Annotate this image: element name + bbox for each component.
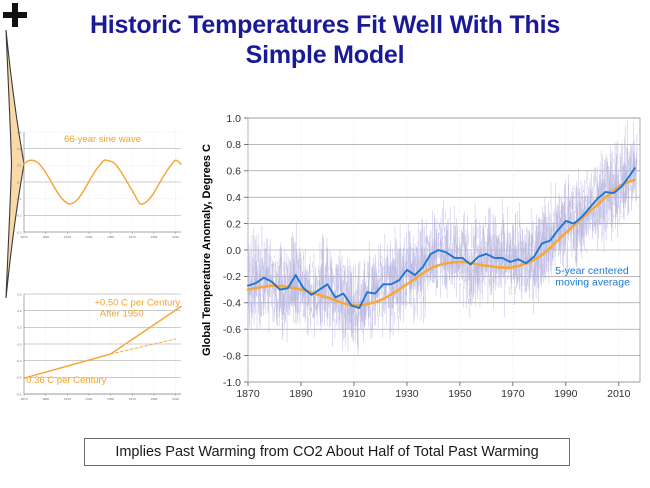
y-axis-tick-label: 0.4 — [226, 192, 241, 204]
x-axis-tick-label: 2010 — [172, 235, 179, 239]
page-title: Historic Temperatures Fit Well With This… — [25, 10, 625, 70]
y-axis-tick-label: -0.2 — [16, 359, 22, 363]
x-axis-tick-label: 1870 — [21, 235, 28, 239]
x-axis-tick-label: 1890 — [42, 235, 49, 239]
x-axis-tick-label: 1930 — [395, 388, 419, 400]
caption-box: Implies Past Warming from CO2 About Half… — [84, 438, 570, 466]
y-axis-tick-label: -0.2 — [223, 271, 241, 283]
page-title-line-1: Historic Temperatures Fit Well With This — [25, 10, 625, 40]
y-axis-tick-label: 0.1 — [17, 164, 22, 168]
y-axis-tick-label: 0.0 — [226, 245, 241, 257]
chart-annotation: +0.50 C per Century — [94, 298, 180, 309]
chart-annotation: After 1950 — [100, 309, 144, 320]
y-axis-tick-label: 0.2 — [17, 147, 22, 151]
sine-wave-chart-svg: -0.3-0.2-0.10.00.10.20.31870189019101930… — [4, 126, 184, 244]
y-axis-tick-label: -0.4 — [223, 298, 241, 310]
sine-wave-chart: -0.3-0.2-0.10.00.10.20.31870189019101930… — [4, 126, 184, 244]
y-axis-tick-label: -1.0 — [223, 377, 241, 389]
x-axis-tick-label: 1990 — [554, 388, 578, 400]
trend-lines-chart: -0.6-0.4-0.20.00.20.40.61870189019101930… — [4, 288, 184, 406]
x-axis-tick-label: 1910 — [64, 397, 71, 401]
y-axis-tick-label: 0.6 — [226, 166, 241, 178]
y-axis-tick-label: 0.8 — [226, 139, 241, 151]
x-axis-tick-label: 1970 — [501, 388, 525, 400]
y-axis-tick-label: 1.0 — [226, 113, 241, 125]
x-axis-tick-label: 2010 — [607, 388, 631, 400]
y-axis-tick-label: -0.4 — [16, 376, 22, 380]
y-axis-tick-label: 0.3 — [17, 130, 22, 134]
y-axis-tick-label: -0.6 — [16, 392, 22, 396]
global-temperature-anomaly-chart-svg: -1.0-0.8-0.6-0.4-0.20.00.20.40.60.81.018… — [196, 110, 646, 408]
x-axis-tick-label: 1950 — [107, 235, 114, 239]
y-axis-tick-label: -0.3 — [16, 230, 22, 234]
chart-annotation-line-2: moving average — [555, 277, 630, 289]
y-axis-tick-label: 0.0 — [17, 342, 22, 346]
y-axis-title: Global Temperature Anomaly, Degrees C — [201, 144, 213, 356]
x-axis-tick-label: 1910 — [342, 388, 366, 400]
global-temperature-anomaly-chart: -1.0-0.8-0.6-0.4-0.20.00.20.40.60.81.018… — [196, 110, 646, 408]
x-axis-tick-label: 1950 — [107, 397, 114, 401]
y-axis-tick-label: 0.2 — [17, 326, 22, 330]
x-axis-tick-label: 1890 — [42, 397, 49, 401]
y-axis-tick-label: 0.6 — [17, 292, 22, 296]
y-axis-tick-label: 0.0 — [17, 180, 22, 184]
x-axis-tick-label: 1890 — [289, 388, 313, 400]
y-axis-tick-label: -0.6 — [223, 324, 241, 336]
x-axis-tick-label: 2010 — [172, 397, 179, 401]
x-axis-tick-label: 1930 — [86, 235, 93, 239]
x-axis-tick-label: 1910 — [64, 235, 71, 239]
y-axis-tick-label: -0.8 — [223, 350, 241, 362]
x-axis-tick-label: 1870 — [236, 388, 260, 400]
x-axis-tick-label: 1930 — [86, 397, 93, 401]
x-axis-tick-label: 1990 — [150, 397, 157, 401]
caption-text: Implies Past Warming from CO2 About Half… — [115, 444, 538, 460]
y-axis-tick-label: 0.2 — [226, 218, 241, 230]
x-axis-tick-label: 1990 — [150, 235, 157, 239]
slide: Historic Temperatures Fit Well With This… — [0, 0, 650, 488]
x-axis-tick-label: 1970 — [129, 397, 136, 401]
trend-lines-chart-svg: -0.6-0.4-0.20.00.20.40.61870189019101930… — [4, 288, 184, 406]
x-axis-tick-label: 1970 — [129, 235, 136, 239]
chart-annotation: 0.36 C per Century — [26, 375, 107, 386]
y-axis-tick-label: -0.1 — [16, 197, 22, 201]
y-axis-tick-label: 0.4 — [17, 309, 22, 313]
y-axis-tick-label: -0.2 — [16, 214, 22, 218]
chart-annotation-line-1: 5-year centered — [555, 265, 629, 277]
x-axis-tick-label: 1950 — [448, 388, 472, 400]
page-title-line-2: Simple Model — [25, 40, 625, 70]
x-axis-tick-label: 1870 — [21, 397, 28, 401]
chart-inline-title: 66-year sine wave — [64, 134, 141, 145]
